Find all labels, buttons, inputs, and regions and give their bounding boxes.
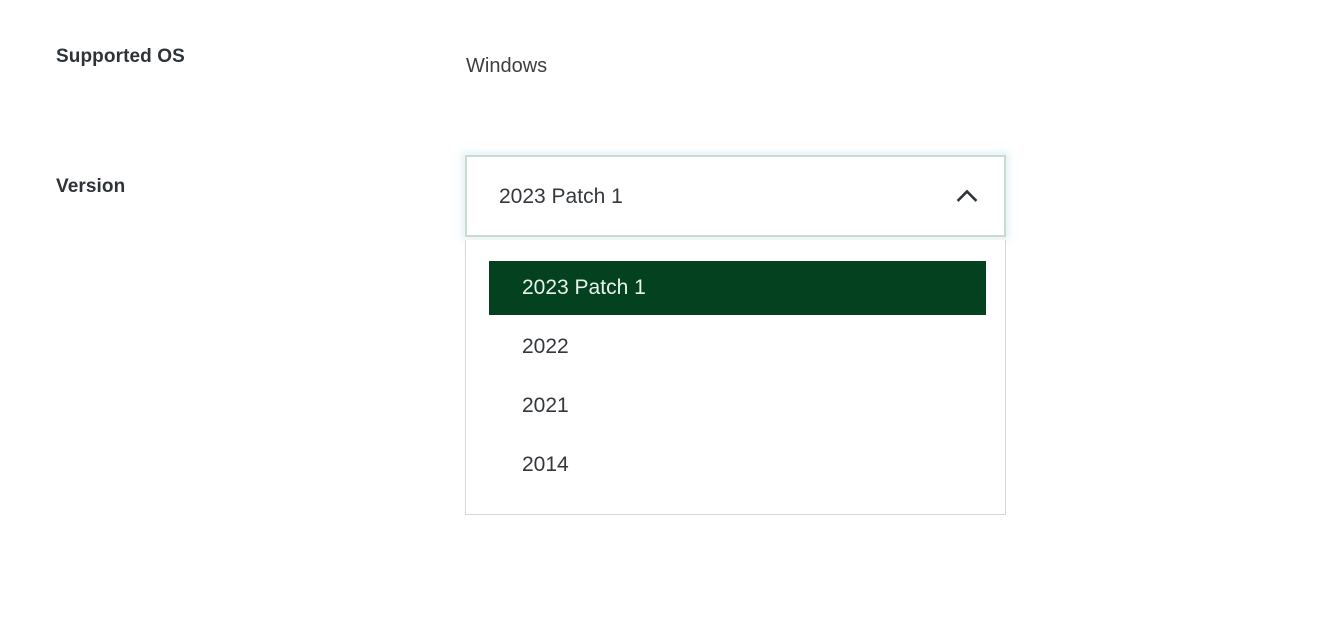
dropdown-option-2022[interactable]: 2022 xyxy=(489,320,986,374)
chevron-up-icon[interactable] xyxy=(952,181,982,211)
version-label: Version xyxy=(56,176,125,198)
version-select-dropdown[interactable]: 2023 Patch 1 2022 2021 2014 xyxy=(465,240,1006,515)
supported-os-value: Windows xyxy=(466,55,547,78)
version-select-combobox[interactable]: 2023 Patch 1 xyxy=(465,155,1006,237)
dropdown-option-2021[interactable]: 2021 xyxy=(489,379,986,433)
dropdown-option-2014[interactable]: 2014 xyxy=(489,438,986,492)
dropdown-option-2023-patch-1[interactable]: 2023 Patch 1 xyxy=(489,261,986,315)
version-select-wrapper: 2023 Patch 1 xyxy=(465,155,1006,237)
version-select-value: 2023 Patch 1 xyxy=(499,186,623,207)
supported-os-label: Supported OS xyxy=(56,46,185,68)
